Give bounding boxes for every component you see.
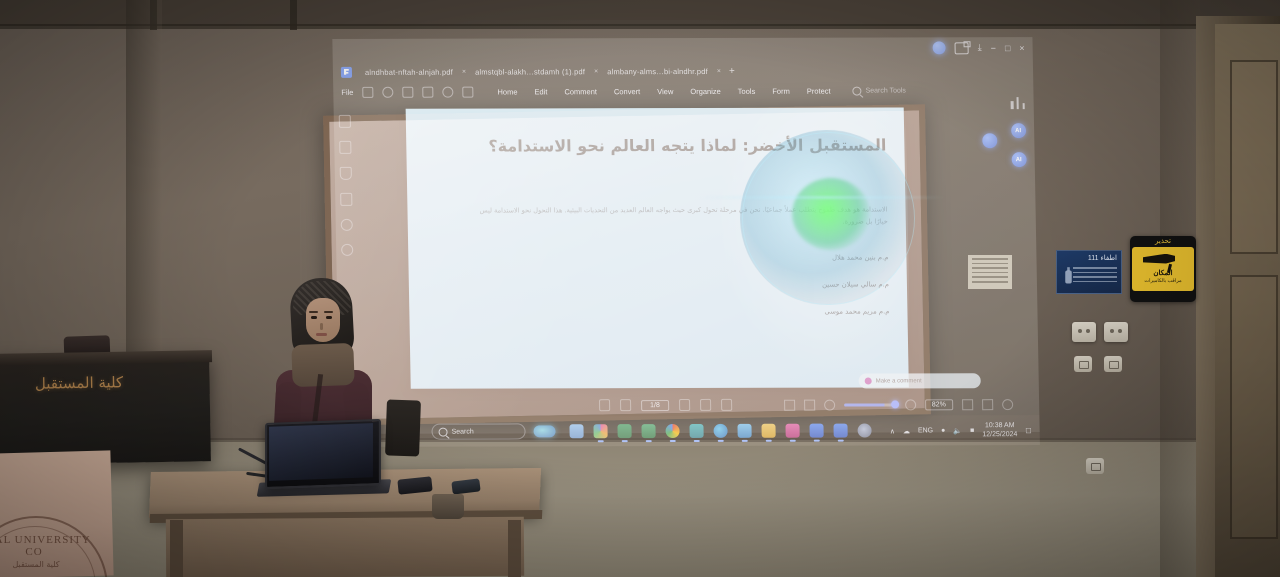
chrome-icon[interactable] — [665, 424, 679, 438]
signature-icon[interactable] — [341, 244, 353, 256]
page-nav-group[interactable]: 1/8 — [599, 399, 732, 411]
foxit-pdf-icon[interactable] — [809, 424, 823, 438]
ai-badge-icon[interactable]: AI — [1011, 152, 1026, 167]
tab-document-1[interactable]: alndhbat-nftah-alnjah.pdf — [358, 67, 460, 76]
account-avatar[interactable] — [933, 41, 946, 54]
table-body — [166, 517, 524, 577]
running-indicator — [838, 440, 844, 442]
ai-assistant-icon[interactable]: AI — [1010, 123, 1025, 138]
search-tools-box[interactable]: Search Tools — [852, 86, 906, 95]
zotero-icon[interactable] — [785, 424, 799, 438]
zoom-slider-knob[interactable] — [891, 400, 899, 408]
select-tool-icon[interactable] — [620, 399, 631, 411]
taskbar-search[interactable]: Search — [431, 423, 525, 439]
menu-comment[interactable]: Comment — [564, 87, 597, 96]
quick-access-dropdown-icon[interactable] — [462, 87, 473, 98]
search-tools-label: Search Tools — [865, 87, 905, 94]
share-icon[interactable] — [442, 87, 453, 98]
menu-file[interactable]: File — [341, 88, 353, 97]
stamps-icon[interactable] — [340, 167, 352, 180]
podium-label: كلية المستقبل — [4, 373, 154, 394]
menu-bar[interactable]: File Home Edit Comment Convert View Orga… — [333, 81, 1033, 102]
bookmarks-icon[interactable] — [339, 141, 351, 154]
power-socket[interactable] — [1104, 322, 1128, 342]
ceiling-edge — [0, 24, 1280, 29]
help-icon[interactable] — [1002, 399, 1013, 410]
desk-object — [432, 494, 464, 519]
rotate-icon[interactable] — [824, 399, 835, 410]
comment-overlay-pill[interactable]: Make a comment — [859, 373, 981, 388]
door-panel-upper — [1230, 60, 1278, 254]
clock-time: 10:38 AM — [985, 422, 1015, 429]
door-panel-lower — [1230, 275, 1278, 539]
zoom-dropdown-icon[interactable] — [962, 399, 973, 410]
page-thumbnails-icon[interactable] — [339, 115, 351, 128]
classroom-scene: alndhbat-nftah-alnjah.pdf × almstqbl-ala… — [0, 0, 1280, 577]
clock-date: 12/25/2024 — [982, 431, 1017, 438]
zoom-slider[interactable] — [844, 403, 896, 406]
ceiling — [0, 0, 1280, 26]
battery-icon[interactable]: ■ — [970, 427, 974, 434]
menu-tools[interactable]: Tools — [738, 87, 756, 96]
window-controls[interactable]: ⤓ − □ × — [933, 41, 1025, 54]
table-leg — [508, 520, 521, 577]
sphere-light-beam — [700, 196, 945, 199]
edge-icon[interactable] — [713, 424, 727, 438]
fire-sign-lines — [1073, 267, 1117, 285]
running-indicator — [718, 440, 724, 442]
running-indicator — [814, 440, 820, 442]
running-indicator — [622, 440, 628, 442]
banner-seal-text-ar: كلية المستقبل — [0, 560, 96, 569]
right-sidebar[interactable]: AI AI — [1004, 97, 1033, 167]
author-3: م.م مريم محمد موسى — [469, 307, 889, 316]
clock[interactable]: 10:38 AM 12/25/2024 — [982, 422, 1017, 440]
running-indicator — [790, 440, 796, 442]
undo-icon[interactable] — [382, 87, 393, 98]
notifications-icon[interactable]: ☐ — [1025, 427, 1031, 435]
menu-left-group[interactable]: File — [333, 87, 473, 98]
laptop-screen-glow — [269, 423, 373, 481]
ceiling-beam — [290, 0, 297, 30]
running-indicator — [766, 440, 772, 442]
running-indicator — [742, 440, 748, 442]
menu-edit[interactable]: Edit — [534, 87, 547, 96]
menu-items[interactable]: Home Edit Comment Convert View Organize … — [497, 87, 830, 97]
cctv-sign-line1: المكان — [1132, 269, 1194, 277]
zoom-out-icon[interactable] — [905, 399, 916, 410]
fit-page-icon[interactable] — [784, 399, 795, 410]
file-explorer-icon[interactable] — [761, 424, 775, 438]
foxit-pdf-window[interactable]: alndhbat-nftah-alnjah.pdf × almstqbl-ala… — [332, 37, 1039, 434]
save-icon[interactable] — [362, 87, 373, 98]
search-icon — [438, 427, 447, 436]
presenter-eye-left — [311, 316, 317, 319]
sphere-green-highlight — [792, 178, 870, 250]
cctv-sign-body: المكان مراقب بالكاميرات — [1132, 247, 1194, 291]
power-socket-small[interactable] — [1074, 356, 1092, 372]
fire-extinguisher-sign: اطفاء 111 — [1056, 250, 1122, 294]
copilot-icon[interactable] — [533, 425, 555, 437]
network-icon[interactable]: ● — [941, 428, 945, 435]
power-socket-small[interactable] — [1104, 356, 1122, 372]
foxit-pdf-2-icon[interactable] — [833, 424, 847, 438]
presenter-nose — [320, 323, 323, 330]
page-indicator[interactable]: 1/8 — [641, 400, 669, 411]
fire-sign-title: اطفاء 111 — [1088, 254, 1117, 262]
presenter-mouth — [316, 333, 327, 336]
projected-screen: alndhbat-nftah-alnjah.pdf × almstqbl-ala… — [332, 37, 1039, 434]
volume-icon[interactable]: 🔈 — [953, 427, 962, 435]
running-indicator — [670, 440, 676, 442]
teal-app-icon[interactable] — [689, 424, 703, 438]
pdf-status-bar[interactable]: 1/8 82% — [361, 393, 1039, 417]
zoom-group[interactable]: 82% — [784, 399, 1013, 411]
presenter-brow-left — [309, 311, 318, 313]
cctv-warning-sign: تحذير المكان مراقب بالكاميرات — [1130, 236, 1196, 302]
tab-strip[interactable]: alndhbat-nftah-alnjah.pdf × almstqbl-ala… — [341, 62, 741, 81]
menu-organize[interactable]: Organize — [690, 87, 721, 96]
zoom-level[interactable]: 82% — [925, 399, 953, 410]
previous-page-icon[interactable] — [679, 399, 690, 411]
pan-tool-icon[interactable] — [599, 399, 610, 411]
download-icon[interactable]: ⤓ — [978, 42, 982, 53]
close-button[interactable]: × — [1019, 43, 1024, 53]
taskbar-app-icons[interactable] — [569, 423, 871, 438]
minimize-button[interactable]: − — [991, 43, 996, 53]
tab-document-2[interactable]: almstqbl-alakh…stdamh (1).pdf — [468, 67, 592, 76]
presenter-scarf — [291, 343, 354, 387]
screen-mode-icon[interactable] — [955, 42, 969, 54]
cctv-sign-line2: مراقب بالكاميرات — [1132, 278, 1194, 284]
presenter-eye-right — [326, 316, 332, 319]
photos-icon[interactable] — [593, 424, 607, 438]
settings-icon[interactable] — [857, 423, 871, 437]
menu-view[interactable]: View — [657, 87, 673, 96]
excel-2-icon[interactable] — [641, 424, 655, 438]
task-view-icon[interactable] — [569, 424, 583, 438]
tab-document-3[interactable]: almbany-alms…bi-alndhr.pdf — [600, 66, 715, 75]
redo-icon[interactable] — [402, 87, 413, 98]
wall-paper-notice — [968, 255, 1012, 289]
window-titlebar — [332, 37, 1033, 65]
language-indicator[interactable]: ENG — [918, 428, 933, 435]
excel-icon[interactable] — [617, 424, 631, 438]
page-layout-icon[interactable] — [721, 399, 732, 411]
next-page-icon[interactable] — [700, 399, 711, 411]
chair — [385, 399, 421, 456]
print-icon[interactable] — [422, 87, 433, 98]
new-tab-button[interactable]: + — [723, 65, 741, 76]
fit-width-icon[interactable] — [804, 399, 815, 410]
power-socket-low[interactable] — [1086, 458, 1104, 474]
foxit-logo-icon — [341, 66, 352, 77]
tab-close-icon[interactable]: × — [592, 68, 600, 75]
menu-convert[interactable]: Convert — [614, 87, 640, 96]
chevron-up-icon[interactable]: ∧ — [890, 427, 895, 435]
comment-dot-icon — [865, 377, 872, 384]
podium — [0, 353, 211, 465]
cctv-sign-title: تحذير — [1132, 238, 1194, 246]
onedrive-icon[interactable]: ☁ — [903, 427, 910, 435]
running-indicator — [694, 440, 700, 442]
attachments-icon[interactable] — [340, 193, 352, 206]
menu-form[interactable]: Form — [772, 87, 790, 96]
maximize-button[interactable]: □ — [1005, 43, 1011, 53]
running-indicator — [598, 440, 604, 442]
system-tray[interactable]: ∧ ☁ ENG ● 🔈 ■ 10:38 AM 12/25/2024 ☐ — [890, 422, 1032, 440]
search-icon — [852, 87, 861, 96]
comment-overlay-label: Make a comment — [876, 378, 922, 384]
tab-close-icon[interactable]: × — [715, 67, 723, 74]
search-icon[interactable] — [341, 219, 353, 231]
running-indicator — [646, 440, 652, 442]
fullscreen-icon[interactable] — [982, 399, 993, 410]
feedback-icon[interactable] — [982, 133, 997, 148]
menu-protect[interactable]: Protect — [807, 87, 831, 96]
tab-close-icon[interactable]: × — [460, 68, 468, 75]
table-leg — [170, 520, 183, 577]
taskbar-search-placeholder: Search — [451, 428, 473, 435]
panel-icon[interactable] — [1011, 97, 1025, 109]
presenter-brow-right — [324, 311, 333, 313]
menu-home[interactable]: Home — [497, 87, 517, 96]
banner-seal-text: OBAL UNIVERSITY CO — [0, 534, 98, 558]
onedrive-doc-icon[interactable] — [737, 424, 751, 438]
windows-taskbar[interactable]: Search — [339, 415, 1040, 447]
power-socket[interactable] — [1072, 322, 1096, 342]
